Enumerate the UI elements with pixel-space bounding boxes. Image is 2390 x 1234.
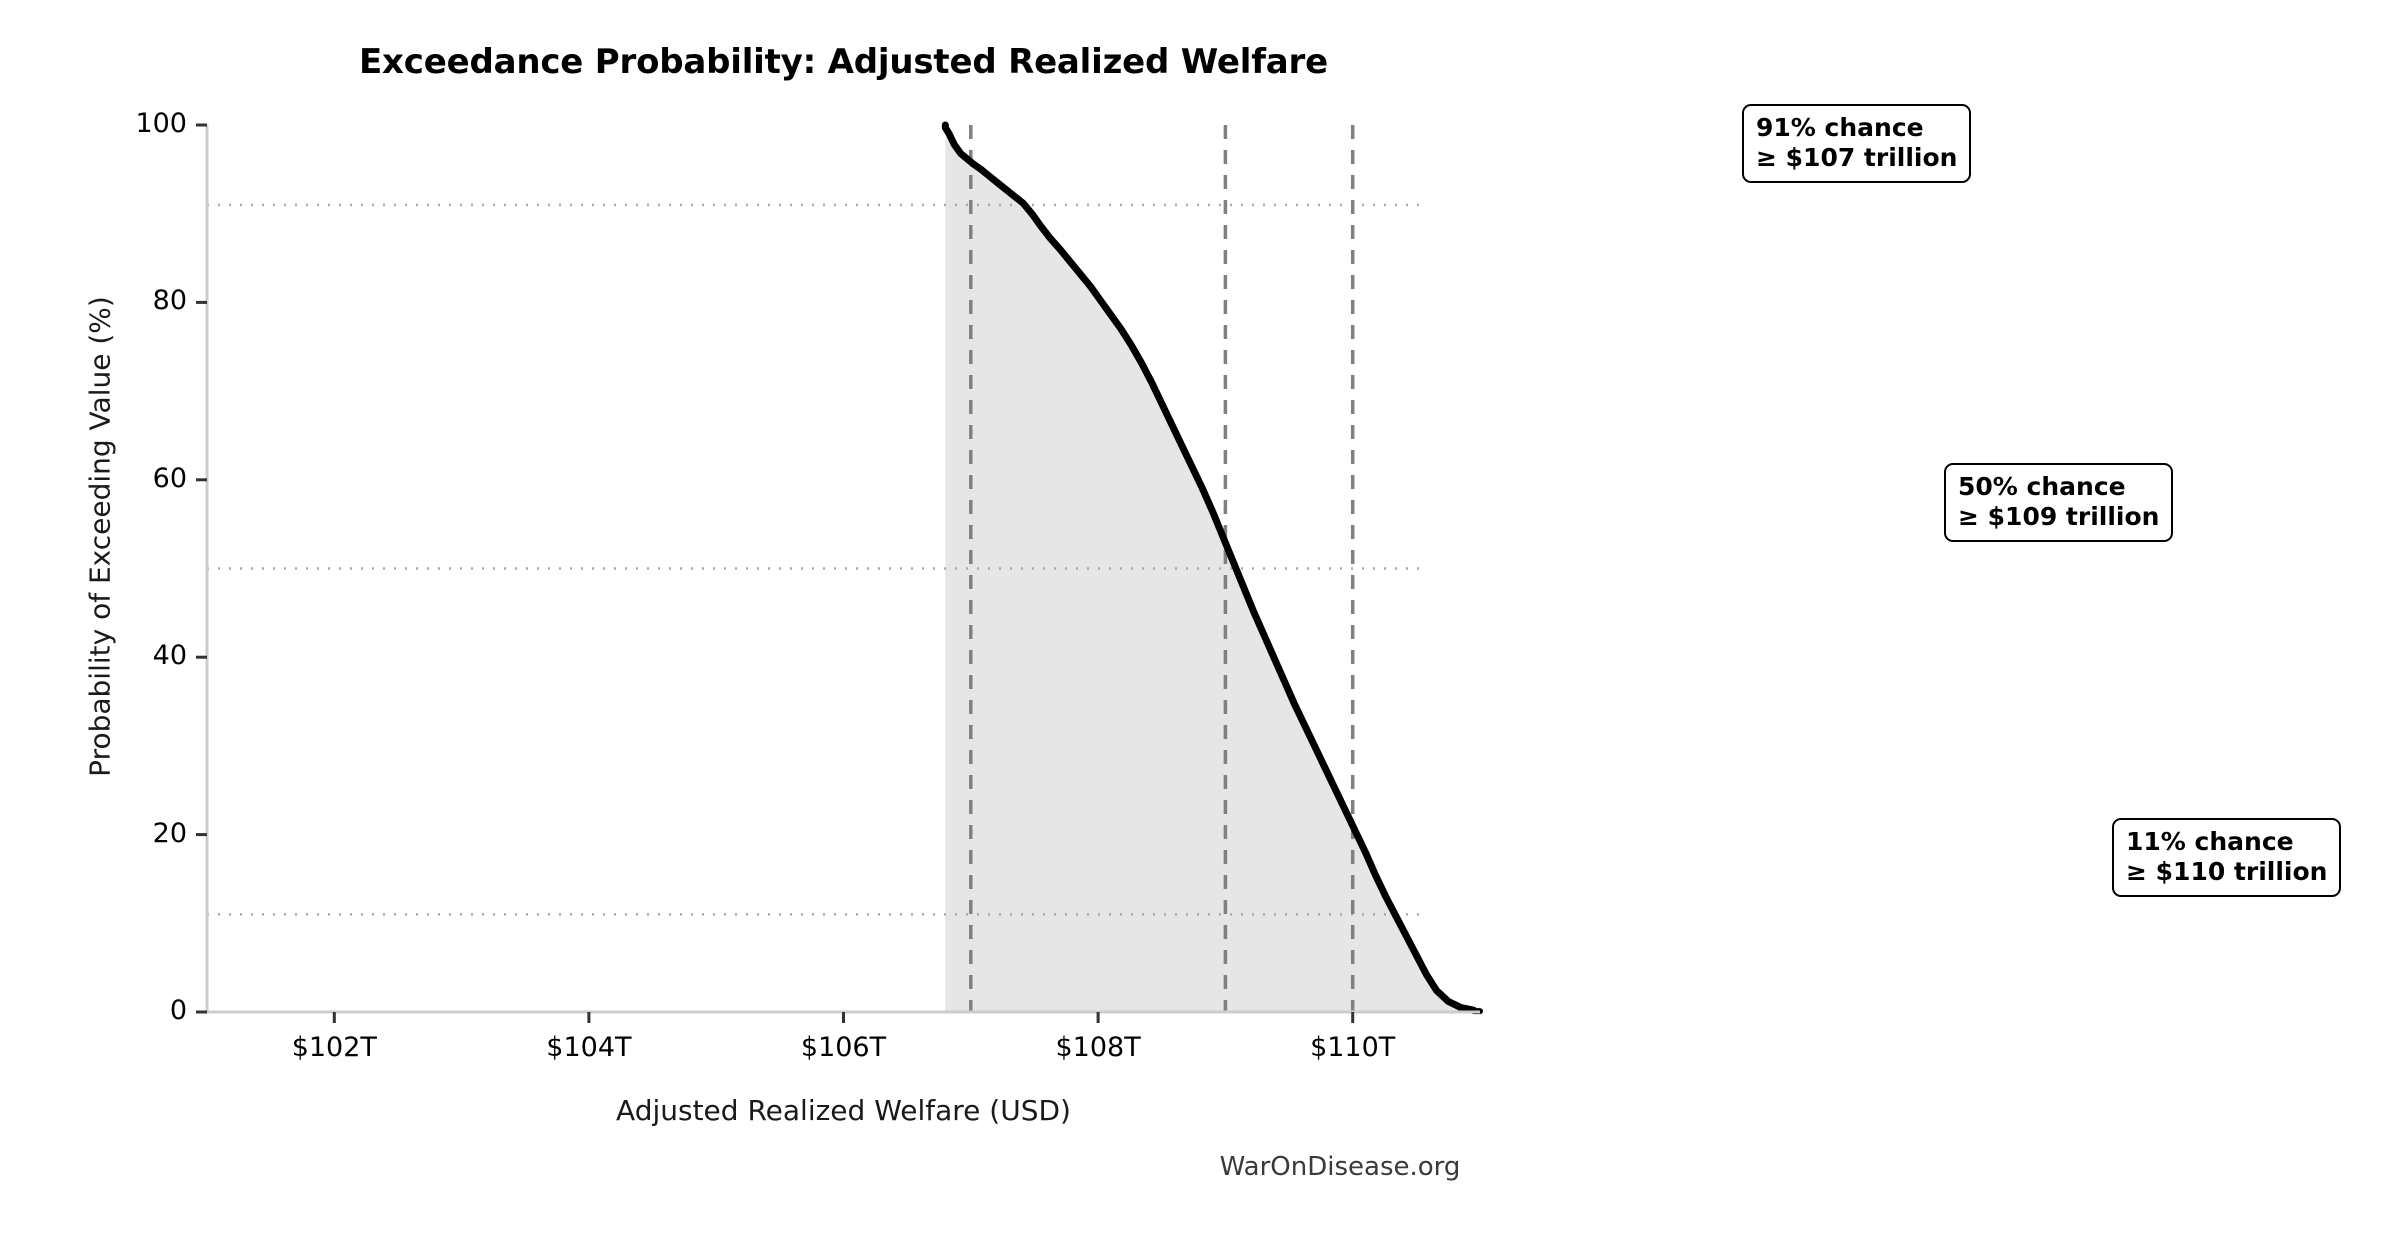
footer-watermark: WarOnDisease.org [1090,1152,1590,1182]
x-tick-label: $104T [489,1032,689,1063]
y-tick-label: 20 [67,818,187,849]
y-tick-label: 80 [67,285,187,316]
x-tick-label: $108T [998,1032,1198,1063]
chart-figure: Exceedance Probability: Adjusted Realize… [0,0,2390,1234]
annotation-callout-50: 50% chance ≥ $109 trillion [1944,463,2173,542]
y-tick-label: 40 [67,640,187,671]
y-tick-label: 0 [67,995,187,1026]
annotation-line-1: 91% chance [1756,113,1924,142]
annotation-line-2: ≥ $109 trillion [1958,502,2159,532]
y-tick-label: 60 [67,463,187,494]
x-axis-title: Adjusted Realized Welfare (USD) [207,1094,1480,1127]
y-axis-title: Probability of Exceeding Value (%) [84,87,117,987]
plot-area [207,125,1480,1012]
x-tick-label: $102T [234,1032,434,1063]
x-tick-label: $106T [744,1032,944,1063]
annotation-line-2: ≥ $107 trillion [1756,143,1957,173]
y-tick-label: 100 [67,108,187,139]
annotation-line-2: ≥ $110 trillion [2126,857,2327,887]
annotation-callout-91: 91% chance ≥ $107 trillion [1742,104,1971,183]
shaded-region [945,128,1473,1012]
annotation-line-1: 50% chance [1958,472,2126,501]
exceedance-curve-svg [207,125,1480,1012]
annotation-line-1: 11% chance [2126,827,2294,856]
annotation-callout-11: 11% chance ≥ $110 trillion [2112,818,2341,897]
page-title: Exceedance Probability: Adjusted Realize… [207,42,1480,82]
x-tick-label: $110T [1253,1032,1453,1063]
